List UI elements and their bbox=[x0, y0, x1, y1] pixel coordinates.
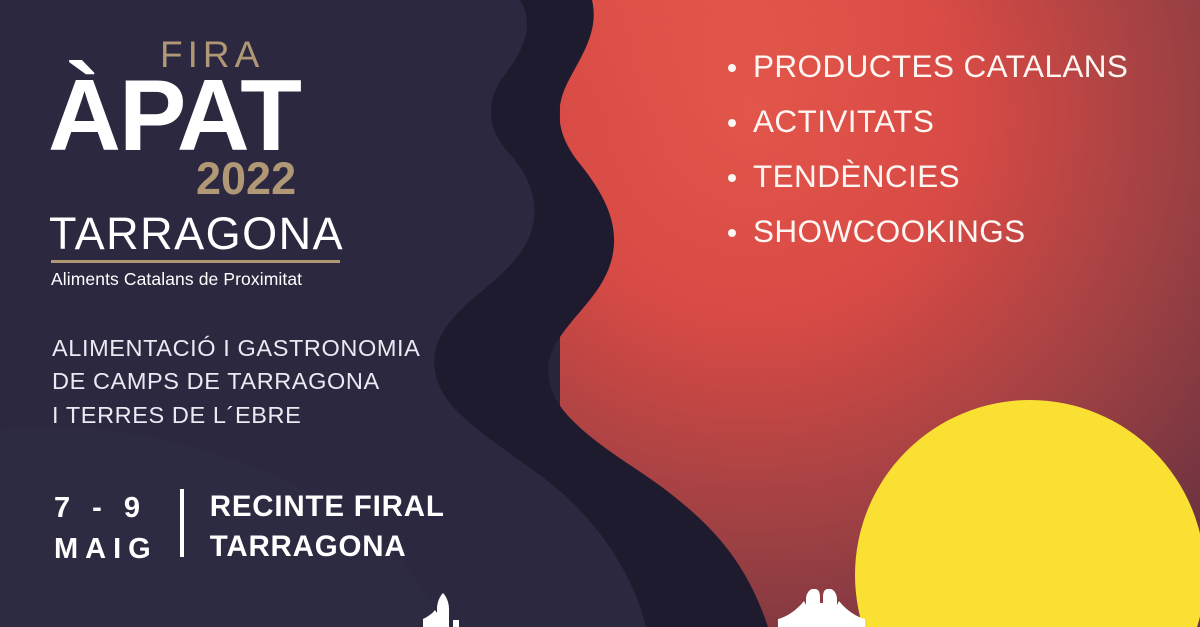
list-item: PRODUCTES CATALANS bbox=[726, 50, 1128, 83]
logo-divider-rule bbox=[51, 260, 340, 263]
bullet-dot-icon bbox=[728, 64, 736, 72]
tagline-line-2: DE CAMPS DE TARRAGONA bbox=[52, 365, 420, 398]
partial-logo-right bbox=[760, 589, 880, 627]
feature-label: PRODUCTES CATALANS bbox=[753, 48, 1128, 84]
logo-subtitle-text: Aliments Catalans de Proximitat bbox=[51, 269, 302, 290]
logo-city-text: TARRAGONA bbox=[49, 211, 344, 256]
logo-year-text: 2022 bbox=[196, 156, 296, 201]
feature-label: TENDÈNCIES bbox=[753, 158, 960, 194]
event-date-month: MAIG bbox=[54, 529, 158, 570]
event-venue-line-1: RECINTE FIRAL bbox=[210, 487, 445, 527]
event-date-days: 7 - 9 bbox=[54, 488, 158, 529]
list-item: TENDÈNCIES bbox=[726, 160, 1128, 193]
bullet-dot-icon bbox=[728, 174, 736, 182]
poster-tagline: ALIMENTACIÓ I GASTRONOMIA DE CAMPS DE TA… bbox=[52, 332, 420, 432]
list-item: ACTIVITATS bbox=[726, 105, 1128, 138]
bullet-dot-icon bbox=[728, 229, 736, 237]
event-info-block: 7 - 9 MAIG RECINTE FIRAL TARRAGONA bbox=[54, 487, 445, 570]
feature-label: ACTIVITATS bbox=[753, 103, 934, 139]
event-venue: RECINTE FIRAL TARRAGONA bbox=[210, 487, 445, 567]
event-poster: FIRA ÀPAT 2022 TARRAGONA Aliments Catala… bbox=[0, 0, 1200, 627]
list-item: SHOWCOOKINGS bbox=[726, 215, 1128, 248]
feature-label: SHOWCOOKINGS bbox=[753, 213, 1026, 249]
tagline-line-1: ALIMENTACIÓ I GASTRONOMIA bbox=[52, 332, 420, 365]
feature-list: PRODUCTES CATALANS ACTIVITATS TENDÈNCIES… bbox=[726, 50, 1128, 270]
event-date: 7 - 9 MAIG bbox=[54, 487, 158, 570]
logo-apat-text: ÀPAT bbox=[48, 66, 300, 167]
bullet-dot-icon bbox=[728, 119, 736, 127]
info-vertical-divider bbox=[180, 489, 184, 557]
partial-logo-left bbox=[415, 593, 467, 627]
tagline-line-3: I TERRES DE L´EBRE bbox=[52, 399, 420, 432]
event-venue-line-2: TARRAGONA bbox=[210, 527, 445, 567]
